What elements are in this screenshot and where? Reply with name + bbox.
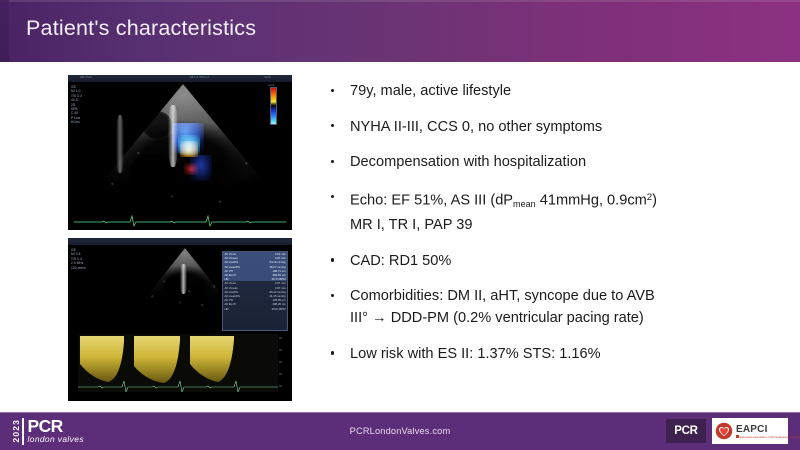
ultrasound-overlay-metadata: GE MI 1.0 TIS 0.3 4V-D 2D 55% C 50 P Low… bbox=[71, 85, 82, 125]
ultrasound-overlay-metadata-bottom: GE MI 0.5 TIS 0.4 2.5 MHz 100 mm/s bbox=[71, 248, 86, 270]
logo-brand-text: PCR bbox=[28, 419, 84, 434]
ultrasound-device-label: GE Vivid bbox=[80, 75, 92, 79]
bullet-text: Echo: EF 51%, AS III (dP bbox=[350, 192, 513, 208]
left-ventricle-cavity bbox=[128, 153, 174, 197]
heart-icon bbox=[715, 422, 733, 440]
list-item: Low risk with ES II: 1.37% STS: 1.16% bbox=[326, 343, 778, 365]
bullet-text-part3: ) bbox=[652, 192, 657, 208]
doppler-color-scale bbox=[270, 87, 277, 125]
lateral-wall bbox=[116, 115, 124, 173]
doppler-scale-label: cm/s bbox=[268, 83, 274, 87]
echocardiogram-color-doppler-image: GE Vivid MI 1.0 TIS 0.3 4V-D GE MI 1.0 T… bbox=[68, 75, 292, 230]
heart-icon-svg bbox=[715, 422, 733, 440]
ecg-trace-svg bbox=[74, 213, 286, 227]
bullet-text: 79y, male, active lifestyle bbox=[350, 83, 511, 99]
logo-subbrand-text: london valves bbox=[28, 434, 84, 444]
bullet-text: Low risk with ES II: 1.37% STS: 1.16% bbox=[350, 346, 601, 362]
bullet-text: NYHA II-III, CCS 0, no other symptoms bbox=[350, 119, 602, 135]
measurement-row: HR46.01 BPM bbox=[223, 307, 287, 311]
eapci-subtitle-text: European Association of Percutaneous Car… bbox=[740, 435, 800, 439]
eapci-square-mark bbox=[736, 435, 739, 438]
list-item: CAD: RD1 50% bbox=[326, 250, 778, 272]
bullet-marker bbox=[331, 124, 334, 127]
bullet-marker bbox=[331, 89, 334, 92]
bullet-text: Decompensation with hospitalization bbox=[350, 154, 586, 170]
gradient-subscript: mean bbox=[513, 198, 536, 208]
spectral-doppler-canvas bbox=[78, 334, 278, 392]
measurement-value: 46.01 BPM bbox=[272, 307, 286, 311]
ultrasound-topbar-bottom bbox=[68, 238, 292, 245]
ecg-trace-top bbox=[74, 213, 286, 227]
reference-septum bbox=[180, 264, 187, 294]
logo-divider-rule bbox=[22, 418, 24, 445]
ultrasound-index-label: MI 1.0 TIS 0.3 bbox=[190, 75, 209, 79]
bullet-marker bbox=[331, 351, 334, 354]
pcr-badge-text: PCR bbox=[674, 425, 697, 437]
list-item: Decompensation with hospitalization bbox=[326, 151, 778, 173]
spectral-doppler-svg bbox=[78, 334, 278, 392]
list-item: NYHA II-III, CCS 0, no other symptoms bbox=[326, 116, 778, 138]
bullet-marker bbox=[331, 258, 334, 261]
bullet-continuation: III° → DDD-PM (0.2% ventricular pacing r… bbox=[350, 307, 778, 329]
measurement-rows: AV Vmax4.01 m/sAV Vmean3.00 m/sAV maxPG6… bbox=[223, 252, 287, 311]
velocity-axis-svg bbox=[279, 334, 289, 392]
header-top-highlight bbox=[0, 0, 800, 2]
bullet-marker bbox=[331, 294, 334, 297]
bullet-marker bbox=[331, 195, 334, 198]
list-item-comorbidities: Comorbidities: DM II, aHT, syncope due t… bbox=[326, 285, 778, 329]
eapci-logo: EAPCI European Association of Percutaneo… bbox=[712, 418, 788, 444]
logo-year-text: 2023 bbox=[12, 419, 20, 442]
slide-header: Patient's characteristics bbox=[0, 0, 800, 62]
list-item-echo: Echo: EF 51%, AS III (dPmean 41mmHg, 0.9… bbox=[326, 187, 778, 237]
pcr-badge-logo: PCR bbox=[666, 419, 706, 443]
ultrasound-probe-label: 4V-D bbox=[264, 75, 271, 79]
pcr-london-valves-logo: 2023 PCR london valves bbox=[12, 416, 84, 446]
ultrasound-topbar bbox=[68, 75, 292, 82]
header-left-accent-bar bbox=[0, 0, 9, 62]
bullet-text: CAD: RD1 50% bbox=[350, 253, 451, 269]
eapci-subtitle: European Association of Percutaneous Car… bbox=[736, 435, 800, 439]
list-item: 79y, male, active lifestyle bbox=[326, 80, 778, 102]
bullet-continuation: MR I, TR I, PAP 39 bbox=[350, 214, 778, 236]
page-title: Patient's characteristics bbox=[26, 16, 256, 41]
eapci-text-block: EAPCI European Association of Percutaneo… bbox=[736, 424, 800, 439]
eapci-name-text: EAPCI bbox=[736, 424, 800, 435]
content-bullet-list: 79y, male, active lifestyle NYHA II-III,… bbox=[326, 80, 778, 378]
bullet-marker bbox=[331, 160, 334, 163]
doppler-spectral-trace-image: GE MI 0.5 TIS 0.4 2.5 MHz 100 mm/s AV Vm… bbox=[68, 238, 292, 401]
measurement-label: HR bbox=[225, 307, 229, 311]
bullet-text-part2: 41mmHg, 0.9cm bbox=[536, 192, 647, 208]
color-doppler-flow-secondary bbox=[190, 155, 212, 181]
velocity-axis bbox=[279, 334, 289, 392]
slide-canvas: Patient's characteristics GE Vivid MI 1.… bbox=[0, 0, 800, 450]
measurement-table[interactable]: AV Vmax4.01 m/sAV Vmean3.00 m/sAV maxPG6… bbox=[222, 251, 288, 331]
logo-wordmark: PCR london valves bbox=[28, 419, 84, 444]
bullet-text: Comorbidities: DM II, aHT, syncope due t… bbox=[350, 288, 655, 304]
